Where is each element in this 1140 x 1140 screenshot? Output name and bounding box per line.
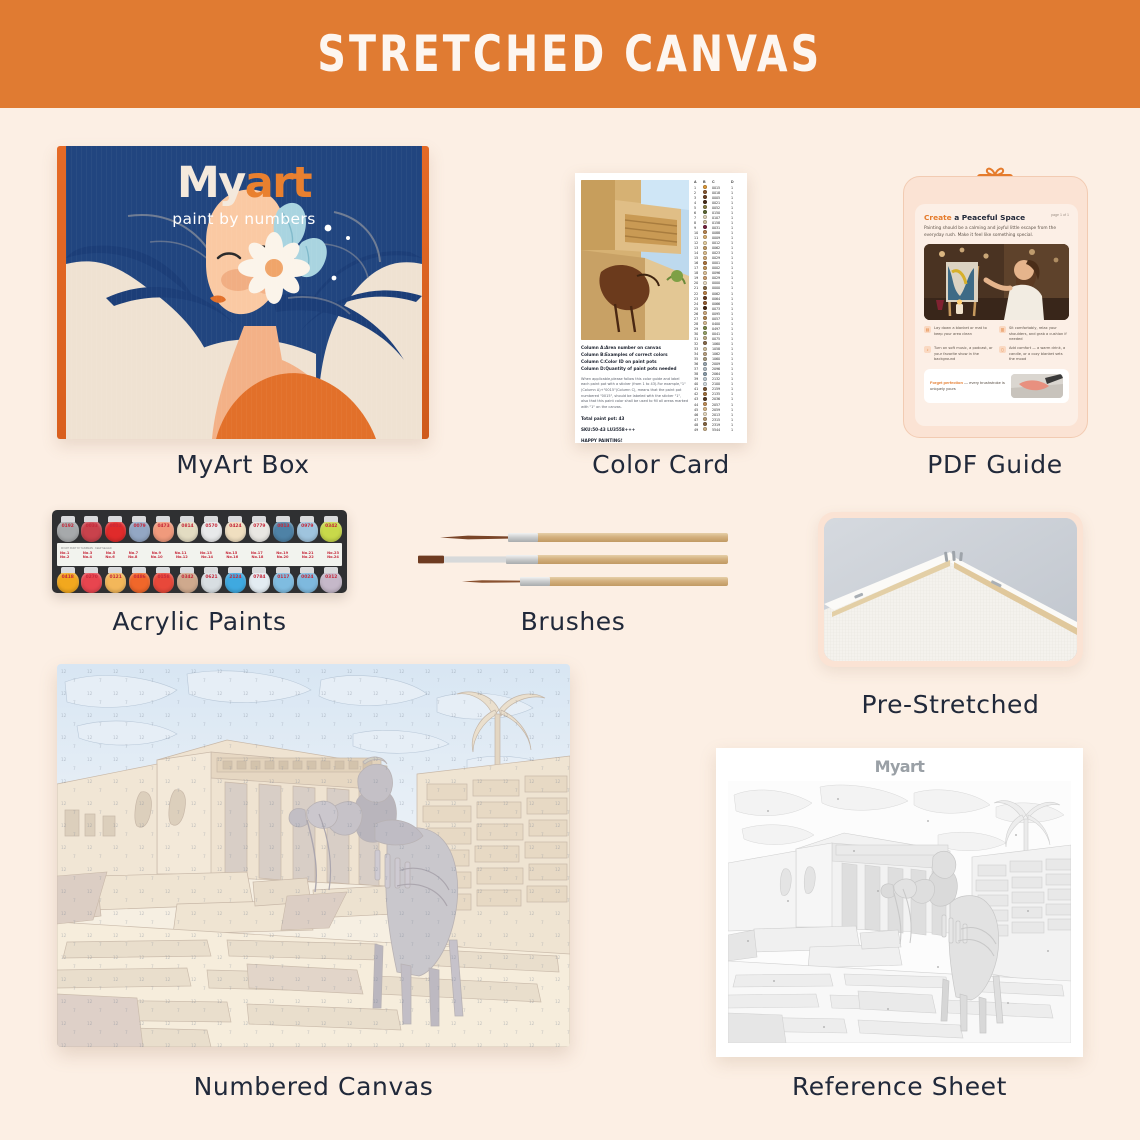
brushes-image (418, 525, 728, 595)
pdf-tip-item: ♪ Turn on soft music, a podcast, or your… (924, 346, 994, 362)
caption-brushes: Brushes (418, 607, 728, 636)
logo-my-text: My (177, 158, 245, 208)
chart-area-number: 9 (694, 226, 703, 230)
paint-pot-code: 0418 (57, 575, 79, 580)
paint-pot-label: No.24 (327, 555, 339, 559)
pdf-tip-text: Turn on soft music, a podcast, or your f… (934, 346, 994, 362)
color-chart-row: 4723151 (694, 417, 741, 422)
chart-quantity: 1 (731, 256, 738, 260)
pdf-page-label: page 1 of 1 (1051, 213, 1069, 217)
color-chart-row: 100151 (694, 185, 741, 190)
color-chart-row: 3820641 (694, 372, 741, 377)
color-chart-row: 3000411 (694, 331, 741, 336)
chart-color-id: 0005 (712, 196, 731, 200)
thumbnail-artwork (581, 180, 689, 340)
chart-area-number: 20 (694, 281, 703, 285)
color-chart-row: 1500291 (694, 256, 741, 261)
chart-area-number: 19 (694, 276, 703, 280)
paint-pot-code: 0270 (81, 575, 103, 580)
paint-pot-label: No.14 (201, 555, 213, 559)
paint-pot-label: No.12 (176, 555, 188, 559)
chart-area-number: 41 (694, 387, 703, 391)
chart-color-id: 0029 (712, 256, 731, 260)
myart-box-image: Myart paint by numbers (57, 146, 429, 439)
chart-area-number: 28 (694, 322, 703, 326)
paint-pot-lid (156, 567, 170, 573)
paint-pot-code: 0033 (81, 524, 103, 529)
paint-pot[interactable]: 0012 (105, 516, 127, 542)
numbered-canvas-scene: 12 7 (57, 664, 570, 1047)
color-chart-row: 4021001 (694, 382, 741, 387)
chart-area-number: 10 (694, 231, 703, 235)
paint-pot-code: 0312 (320, 575, 342, 580)
chart-color-id: 2059 (712, 408, 731, 412)
color-chart-row: 900311 (694, 225, 741, 230)
paint-pot[interactable]: 0814 (177, 516, 199, 542)
pdf-photo (924, 244, 1069, 320)
chart-area-number: 46 (694, 413, 703, 417)
reference-sheet-logo: Myart (728, 757, 1071, 776)
chart-quantity: 1 (731, 377, 738, 381)
color-card-thumbnail (581, 180, 689, 340)
pdf-tips-list: ▤ Lay down a blanket or mat to keep your… (924, 326, 1069, 362)
chart-color-id: 2036 (712, 397, 731, 401)
color-chart-row: 1900291 (694, 276, 741, 281)
chart-quantity: 1 (731, 276, 738, 280)
paint-pot-code: 0013 (273, 524, 295, 529)
color-chart-row: 2400661 (694, 301, 741, 306)
caption-acrylic-paints: Acrylic Paints (52, 607, 347, 636)
color-chart-row: 2904971 (694, 326, 741, 331)
paint-pot-code: 0473 (153, 524, 175, 529)
color-chart-row: 3100751 (694, 336, 741, 341)
chart-area-number: 25 (694, 307, 703, 311)
page-header: STRETCHED CANVAS (0, 0, 1140, 108)
pdf-tip-text: Add comfort — a warm drink, a candle, or… (1009, 346, 1069, 362)
total-paint-pot: Total paint pot: 43 (581, 415, 689, 422)
chart-color-id: 5544 (712, 428, 731, 432)
paint-pot-code: 0979 (297, 524, 319, 529)
chart-color-id: 0075 (712, 337, 731, 341)
paint-pot[interactable]: 0013 (273, 516, 295, 542)
chart-quantity: 1 (731, 317, 738, 321)
chart-color-id: 0018 (712, 191, 731, 195)
color-chart-header: A B C D (694, 180, 741, 184)
paint-pot[interactable]: 0033 (81, 516, 103, 542)
paint-pot[interactable]: 0342 (320, 516, 342, 542)
chart-quantity: 1 (731, 297, 738, 301)
mat-icon: ▤ (924, 326, 931, 333)
chart-area-number: 48 (694, 423, 703, 427)
chart-area-number: 15 (694, 256, 703, 260)
paint-pot[interactable]: 0979 (297, 516, 319, 542)
paint-pot[interactable]: 0270 (81, 567, 103, 593)
color-chart-row: 4320361 (694, 397, 741, 402)
reference-sheet-artwork (728, 781, 1071, 1043)
color-chart-row: 2300641 (694, 296, 741, 301)
color-chart-row: 4620131 (694, 412, 741, 417)
chart-area-number: 45 (694, 408, 703, 412)
chart-quantity: 1 (731, 387, 738, 391)
paint-pot-lid (228, 516, 242, 522)
color-chart-row: 1100091 (694, 235, 741, 240)
color-chart-row: 4221351 (694, 392, 741, 397)
chart-area-number: 40 (694, 382, 703, 386)
chart-color-id: 0057 (712, 317, 731, 321)
paint-pot-lid (84, 516, 98, 522)
paint-pot[interactable]: 0117 (273, 567, 295, 593)
chart-area-number: 8 (694, 221, 703, 225)
chart-color-id: 0095 (712, 312, 731, 316)
chart-color-id: 0052 (712, 206, 731, 210)
paint-pot-lid (252, 516, 266, 522)
numbered-canvas-image: 12 7 (57, 664, 570, 1047)
chart-quantity: 1 (731, 292, 738, 296)
color-chart-row: 3410621 (694, 352, 741, 357)
chart-color-id: 0000 (712, 286, 731, 290)
paint-pot-code: 0784 (249, 575, 271, 580)
color-chart-row: 3720961 (694, 367, 741, 372)
color-chart-row: 601501 (694, 210, 741, 215)
chart-area-number: 16 (694, 261, 703, 265)
chart-color-id: 0031 (712, 226, 731, 230)
chart-area-number: 24 (694, 302, 703, 306)
happy-painting-text: HAPPY PAINTING! (581, 437, 689, 443)
chart-quantity: 1 (731, 357, 738, 361)
detail-brush (462, 577, 728, 586)
paint-pot-code: 0486 (129, 575, 151, 580)
chart-area-number: 36 (694, 362, 703, 366)
paint-pot-code: 2124 (225, 575, 247, 580)
paint-pot[interactable]: 0486 (129, 567, 151, 593)
paint-pot-row-top: 0192003300120079047308140570042407790013… (57, 516, 342, 542)
paint-pot[interactable]: 0621 (201, 567, 223, 593)
chart-color-id: 0012 (712, 241, 731, 245)
chart-quantity: 1 (731, 211, 738, 215)
paint-pot[interactable]: 0473 (153, 516, 175, 542)
brush-handle (546, 577, 728, 586)
paint-pot[interactable]: 0079 (129, 516, 151, 542)
paint-pot-code: 0342 (177, 575, 199, 580)
color-chart-row: 400211 (694, 200, 741, 205)
color-chart-row: 801581 (694, 220, 741, 225)
legend-line-d: Column D:Quantity of paint pots needed (581, 366, 689, 373)
chart-area-number: 33 (694, 347, 703, 351)
chart-quantity: 1 (731, 271, 738, 275)
paint-pot[interactable]: 0312 (320, 567, 342, 593)
paint-pot-lid (324, 567, 338, 573)
brush-tip (462, 577, 522, 586)
chart-color-id: 0062 (712, 292, 731, 296)
paint-pot-code: 0192 (57, 524, 79, 529)
chart-color-swatch (703, 427, 712, 432)
chart-color-id: 2064 (712, 372, 731, 376)
chart-quantity: 1 (731, 286, 738, 290)
acrylic-paints-image: 0192003300120079047308140570042407790013… (52, 510, 347, 593)
caption-numbered-canvas: Numbered Canvas (57, 1072, 570, 1101)
chart-color-id: 0015 (712, 186, 731, 190)
chart-area-number: 29 (694, 327, 703, 331)
chart-color-id: 0041 (712, 332, 731, 336)
chart-quantity: 1 (731, 302, 738, 306)
color-chart-row: 300051 (694, 195, 741, 200)
brush-ferrule (520, 577, 550, 586)
chart-quantity: 1 (731, 312, 738, 316)
paint-pot[interactable]: 2124 (225, 567, 247, 593)
chart-quantity: 1 (731, 352, 738, 356)
chart-quantity: 1 (731, 201, 738, 205)
color-chart-row: 1600011 (694, 261, 741, 266)
chart-color-id: 2057 (712, 403, 731, 407)
chart-quantity: 1 (731, 347, 738, 351)
chart-quantity: 1 (731, 322, 738, 326)
paint-pot[interactable]: 0570 (201, 516, 223, 542)
paint-pot[interactable]: 0424 (225, 516, 247, 542)
brush-ferrule (508, 533, 538, 542)
caption-reference-sheet: Reference Sheet (716, 1072, 1083, 1101)
caption-color-card: Color Card (530, 450, 792, 479)
pdf-heading-accent: Create (924, 213, 952, 222)
brush-tip (440, 533, 510, 542)
color-chart-row: 1200121 (694, 241, 741, 246)
chart-color-id: 0096 (712, 271, 731, 275)
chart-color-id: 0400 (712, 322, 731, 326)
chart-area-number: 39 (694, 377, 703, 381)
paint-pot-code: 0779 (249, 524, 271, 529)
pdf-tip-text: Lay down a blanket or mat to keep your a… (934, 326, 994, 342)
pdf-callout: Forget perfection — every brushstroke is… (924, 369, 1069, 403)
legend-line-a: Column A:Area number on canvas (581, 345, 689, 352)
chart-color-id: 0029 (712, 276, 731, 280)
chart-area-number: 43 (694, 397, 703, 401)
paint-pot-label: No.16 (226, 555, 238, 559)
color-chart-row: 1700021 (694, 266, 741, 271)
pdf-intro: Painting should be a calming and joyful … (924, 226, 1069, 239)
paint-pot-lid (61, 516, 75, 522)
chart-color-id: 0150 (712, 211, 731, 215)
chart-color-id: 2319 (712, 423, 731, 427)
chart-quantity: 1 (731, 397, 738, 401)
chart-area-number: 38 (694, 372, 703, 376)
paint-pot-lid (84, 567, 98, 573)
paint-pot-code: 0814 (177, 524, 199, 529)
brush-handle (528, 555, 728, 564)
paint-pot[interactable]: 0121 (105, 567, 127, 593)
chart-quantity: 1 (731, 423, 738, 427)
paint-pot-label: No.8 (128, 555, 137, 559)
paint-pot[interactable]: 0192 (57, 516, 79, 542)
paint-pot-code: 0117 (273, 575, 295, 580)
chart-quantity: 1 (731, 216, 738, 220)
color-chart-row: 4823191 (694, 422, 741, 427)
label-row-even: No.2No.4No.6No.8No.10No.12No.14No.16No.1… (60, 555, 339, 559)
paint-pot[interactable]: 0418 (57, 567, 79, 593)
paint-pot[interactable]: 0342 (177, 567, 199, 593)
chart-quantity: 1 (731, 332, 738, 336)
page-title: STRETCHED CANVAS (318, 25, 823, 83)
paint-pot[interactable]: 0024 (297, 567, 319, 593)
chart-quantity: 1 (731, 266, 738, 270)
chart-quantity: 1 (731, 236, 738, 240)
paint-pot-code: 0012 (105, 524, 127, 529)
color-chart-row: 500521 (694, 205, 741, 210)
chart-color-id: 2096 (712, 367, 731, 371)
paint-pot[interactable]: 0784 (249, 567, 271, 593)
chart-quantity: 1 (731, 392, 738, 396)
chart-color-id: 0497 (712, 327, 731, 331)
paint-pot-lid (276, 516, 290, 522)
paint-pot-lid (204, 567, 218, 573)
pdf-callout-accent: Forget perfection (930, 380, 963, 385)
chart-quantity: 1 (731, 226, 738, 230)
color-chart-row: 3921321 (694, 377, 741, 382)
chart-area-number: 27 (694, 317, 703, 321)
paint-pot-label: No.4 (83, 555, 92, 559)
reference-sheet-image: Myart (716, 748, 1083, 1057)
chart-quantity: 1 (731, 342, 738, 346)
chart-quantity: 1 (731, 241, 738, 245)
paint-pot[interactable]: 0158 (153, 567, 175, 593)
paint-pot-lid (276, 567, 290, 573)
paint-pot-label: No.22 (302, 555, 314, 559)
color-chart-row: 1800961 (694, 271, 741, 276)
paint-pot-lid (108, 516, 122, 522)
paint-pot-lid (300, 567, 314, 573)
paint-pot[interactable]: 0779 (249, 516, 271, 542)
chart-quantity: 1 (731, 327, 738, 331)
chart-color-id: 0066 (712, 302, 731, 306)
color-chart-table: A B C D 10015120018130005140021150052160… (694, 180, 741, 436)
chart-color-id: 2132 (712, 377, 731, 381)
color-chart-row: 2200621 (694, 291, 741, 296)
color-chart-row: 4955441 (694, 427, 741, 432)
color-chart-row: 2804001 (694, 321, 741, 326)
paint-pot-label: No.20 (277, 555, 289, 559)
chart-quantity: 1 (731, 206, 738, 210)
chart-quantity: 1 (731, 196, 738, 200)
paint-pot-label: No.6 (105, 555, 114, 559)
pdf-callout-image (1011, 374, 1063, 398)
color-chart-row: 2600951 (694, 311, 741, 316)
color-card-note: When applicable,please follow this color… (581, 377, 689, 411)
chart-area-number: 47 (694, 418, 703, 422)
color-chart-row: 4520591 (694, 407, 741, 412)
chart-color-id: 0023 (712, 251, 731, 255)
chart-color-id: 0002 (712, 266, 731, 270)
brush-handle (532, 533, 728, 542)
product-infographic: STRETCHED CANVAS (0, 0, 1140, 1140)
chart-area-number: 17 (694, 266, 703, 270)
canvas-corner-scene (824, 518, 1077, 661)
chart-area-number: 30 (694, 332, 703, 336)
color-chart-row: 200181 (694, 190, 741, 195)
chart-color-id: 1060 (712, 342, 731, 346)
paint-pot-label: No.18 (252, 555, 264, 559)
chart-area-number: 26 (694, 312, 703, 316)
paint-pot-code: 0424 (225, 524, 247, 529)
pdf-tip-item: ▥ Sit comfortably, relax your shoulders,… (999, 326, 1069, 342)
chart-color-id: 1060 (712, 357, 731, 361)
color-card-image: Column A:Area number on canvas Column B:… (575, 173, 747, 443)
brush-tip (418, 555, 508, 564)
chart-color-id: 2100 (712, 382, 731, 386)
chart-quantity: 1 (731, 418, 738, 422)
box-logo: Myart paint by numbers (66, 162, 422, 228)
paint-pot-lid (180, 516, 194, 522)
color-chart-row: 1000881 (694, 230, 741, 235)
legend-line-b: Column B:Examples of correct colors (581, 352, 689, 359)
caption-pdf-guide: PDF Guide (870, 450, 1120, 479)
music-icon: ♪ (924, 346, 931, 353)
chart-area-number: 31 (694, 337, 703, 341)
sku-code: SKU:50-43 LU3558+++ (581, 426, 689, 433)
pdf-photo-scene (924, 244, 1069, 320)
paint-pot-lid (61, 567, 75, 573)
chart-area-number: 23 (694, 297, 703, 301)
pdf-page: page 1 of 1 Create a Peaceful Space Pain… (915, 204, 1078, 426)
chart-area-number: 42 (694, 392, 703, 396)
chart-color-id: 2135 (712, 392, 731, 396)
box-left-edge (57, 146, 66, 439)
chart-area-number: 35 (694, 357, 703, 361)
paint-pot-lid (156, 516, 170, 522)
brush-ferrule (506, 555, 538, 564)
paint-label-strip: MYART PAINT BY NUMBERS · KEEP SEALED No.… (57, 543, 342, 566)
legend-line-c: Column C:Color ID on paint pots (581, 359, 689, 366)
paint-pot-code: 0570 (201, 524, 223, 529)
color-chart-row: 4420571 (694, 402, 741, 407)
paint-pot-code: 0342 (320, 524, 342, 529)
chart-area-number: 7 (694, 216, 703, 220)
chart-area-number: 6 (694, 211, 703, 215)
chart-area-number: 32 (694, 342, 703, 346)
chart-quantity: 1 (731, 408, 738, 412)
paint-pot-lid (228, 567, 242, 573)
chart-area-number: 14 (694, 251, 703, 255)
paint-pot-label: No.10 (151, 555, 163, 559)
chart-quantity: 1 (731, 413, 738, 417)
pre-stretched-image (818, 512, 1083, 667)
paint-pot-lid (324, 516, 338, 522)
paint-pot-lid (108, 567, 122, 573)
color-chart-row: 3620091 (694, 362, 741, 367)
chart-area-number: 49 (694, 428, 703, 432)
box-tagline: paint by numbers (66, 210, 422, 228)
chart-quantity: 1 (731, 186, 738, 190)
chart-quantity: 1 (731, 191, 738, 195)
chart-area-number: 21 (694, 286, 703, 290)
chart-area-number: 5 (694, 206, 703, 210)
chair-icon: ▥ (999, 326, 1006, 333)
chart-area-number: 13 (694, 246, 703, 250)
chart-area-number: 37 (694, 367, 703, 371)
drink-icon: ▯ (999, 346, 1006, 353)
paint-pot-lid (252, 567, 266, 573)
chart-color-id: 0000 (712, 281, 731, 285)
paint-pot-code: 0079 (129, 524, 151, 529)
chart-color-id: 0064 (712, 297, 731, 301)
chart-quantity: 1 (731, 382, 738, 386)
chart-color-id: 2009 (712, 362, 731, 366)
chart-area-number: 3 (694, 196, 703, 200)
color-chart-row: 2000001 (694, 281, 741, 286)
chart-area-number: 4 (694, 201, 703, 205)
paint-pot-code: 0158 (153, 575, 175, 580)
pdf-callout-text: Forget perfection — every brushstroke is… (930, 380, 1006, 392)
color-chart-row: 701071 (694, 215, 741, 220)
caption-pre-stretched: Pre-Stretched (818, 690, 1083, 719)
chart-quantity: 1 (731, 221, 738, 225)
